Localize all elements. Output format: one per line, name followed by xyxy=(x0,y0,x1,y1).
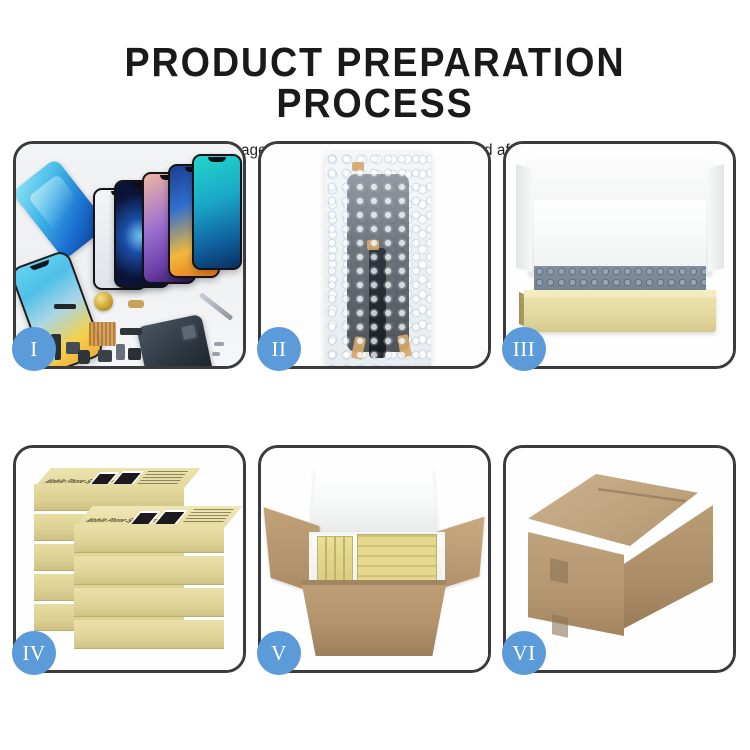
step-image-5 xyxy=(261,448,488,670)
small-part xyxy=(54,304,76,309)
tweezers-tool xyxy=(199,292,234,321)
header: PRODUCT PREPARATION PROCESS All products… xyxy=(0,0,750,160)
phone-back-housing xyxy=(136,314,213,366)
bubble-wrap-bag xyxy=(325,152,431,366)
yellow-box xyxy=(326,536,335,584)
product-preparation-infographic: PRODUCT PREPARATION PROCESS All products… xyxy=(0,0,750,750)
foam-sheet xyxy=(534,200,706,272)
bubble-texture-overlay xyxy=(325,152,431,366)
small-part xyxy=(98,350,112,362)
step-panel-3[interactable]: III xyxy=(503,141,736,369)
small-part xyxy=(116,344,125,360)
step-panel-4[interactable]: Mobile Phone Spare Parts Mobile Phone Sp… xyxy=(13,445,246,673)
step-badge-6: VI xyxy=(502,631,546,675)
step-image-3 xyxy=(506,144,733,366)
phone-screen-e xyxy=(192,154,242,270)
step-badge-5: V xyxy=(257,631,301,675)
step-panel-5[interactable]: V xyxy=(258,445,491,673)
small-part xyxy=(120,328,142,335)
small-part xyxy=(78,350,90,364)
step-panel-6[interactable]: VI xyxy=(503,445,736,673)
yellow-box-group xyxy=(357,534,437,586)
box-stack: Mobile Phone Spare Parts Mobile Phone Sp… xyxy=(22,462,238,662)
step-image-4: Mobile Phone Spare Parts Mobile Phone Sp… xyxy=(16,448,243,670)
carton-front-face xyxy=(528,532,624,636)
yellow-box xyxy=(335,536,344,584)
kraft-box xyxy=(74,588,224,616)
small-part xyxy=(128,348,141,360)
shipping-carton-open xyxy=(301,580,447,656)
carton-tape xyxy=(550,558,568,584)
step-image-1 xyxy=(16,144,243,366)
step-panel-2[interactable]: II xyxy=(258,141,491,369)
step-badge-4: IV xyxy=(12,631,56,675)
foam-lid xyxy=(310,467,438,532)
speaker-coil-part xyxy=(94,292,113,311)
small-part xyxy=(128,300,144,308)
step-badge-3: III xyxy=(502,327,546,371)
kraft-box xyxy=(74,556,224,584)
step-image-6 xyxy=(506,448,733,670)
yellow-box xyxy=(317,536,326,584)
copper-mesh-part xyxy=(89,322,116,346)
kraft-box-front xyxy=(524,296,716,332)
steps-grid: I II xyxy=(13,141,737,673)
page-title: PRODUCT PREPARATION PROCESS xyxy=(30,0,720,124)
kraft-box-top-right: Mobile Phone Spare Parts xyxy=(74,524,224,552)
step-badge-2: II xyxy=(257,327,301,371)
small-part xyxy=(212,352,220,356)
carton-tape xyxy=(552,614,568,637)
kraft-box xyxy=(74,620,224,648)
step-image-2 xyxy=(261,144,488,366)
step-badge-1: I xyxy=(12,327,56,371)
small-part xyxy=(214,342,224,346)
step-panel-1[interactable]: I xyxy=(13,141,246,369)
yellow-box xyxy=(344,536,353,584)
